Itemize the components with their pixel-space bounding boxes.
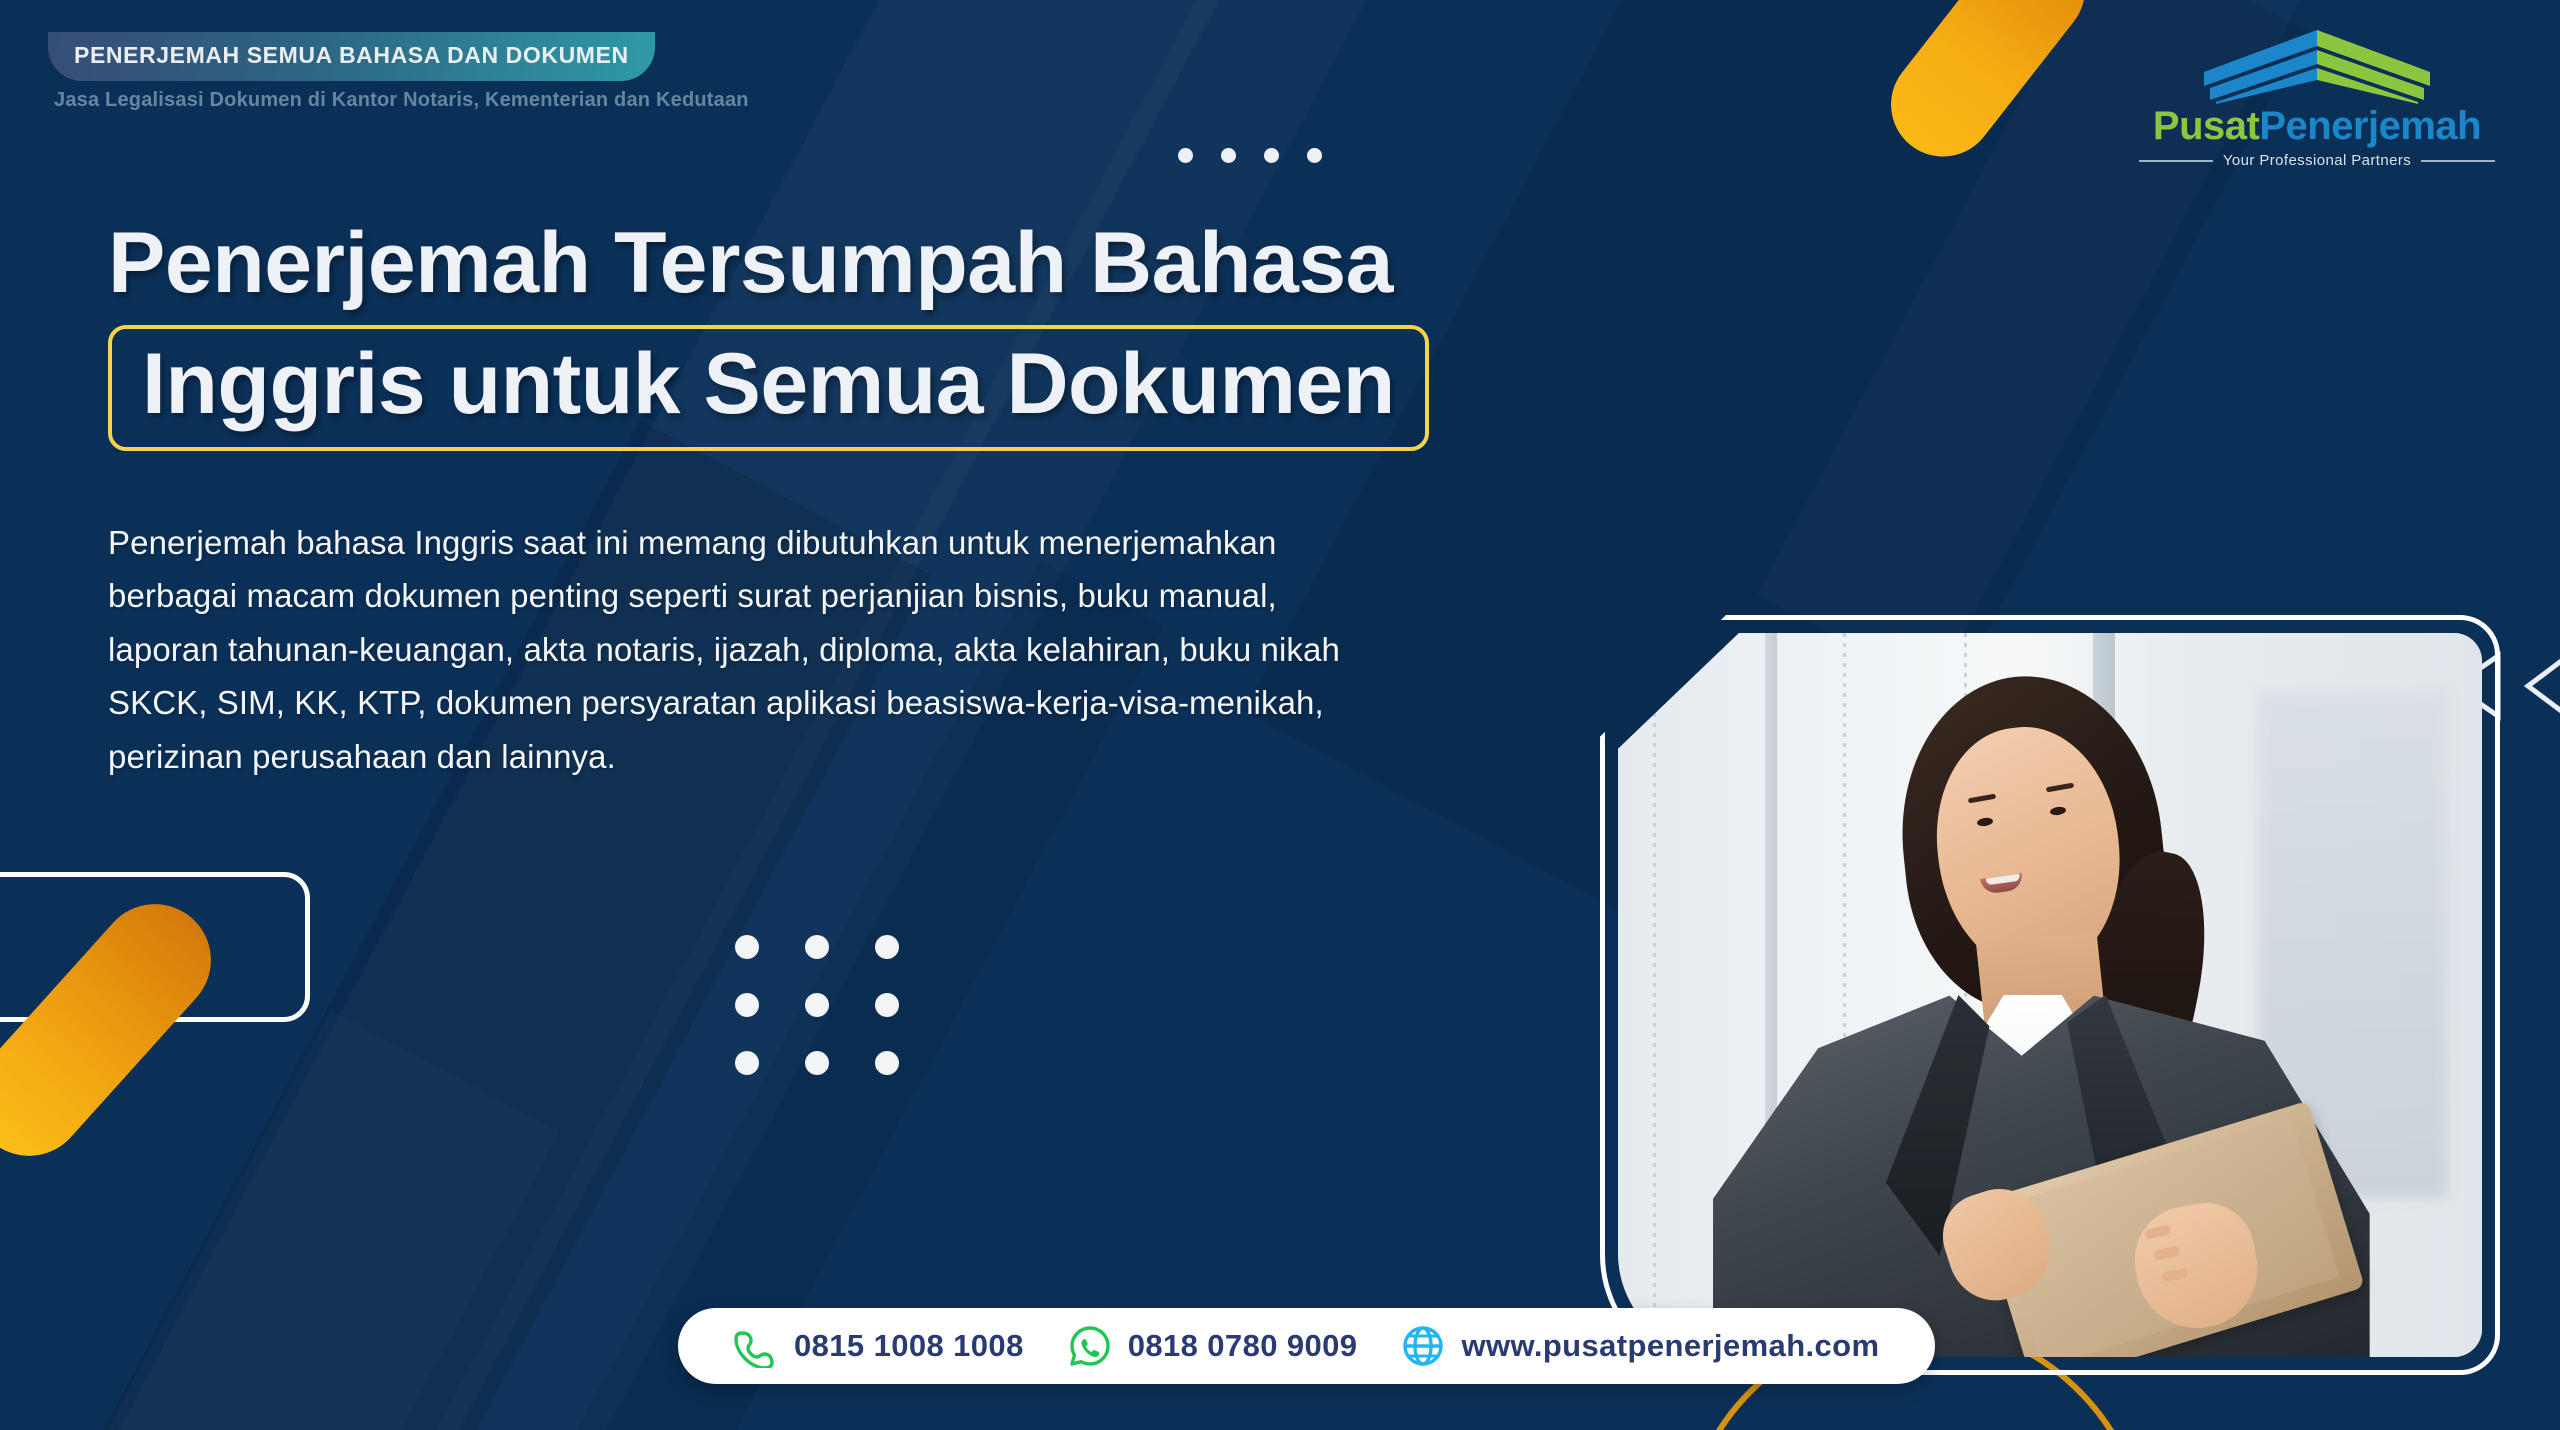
dot	[1307, 148, 1322, 163]
watermark: PENERJEMAH SEMUA BAHASA DAN DOKUMEN Jasa…	[48, 32, 848, 112]
building-roof-icon	[2122, 26, 2512, 104]
promo-banner: PENERJEMAH SEMUA BAHASA DAN DOKUMEN Jasa…	[0, 0, 2560, 1430]
logo-wordmark: PusatPenerjemah	[2122, 106, 2512, 146]
headline-line-1: Penerjemah Tersumpah Bahasa	[108, 215, 1908, 311]
phone-number: 0815 1008 1008	[794, 1328, 1024, 1364]
dot	[735, 993, 759, 1017]
paragraph-line: Penerjemah bahasa Inggris saat ini meman…	[108, 516, 1808, 569]
dot	[805, 1051, 829, 1075]
logo-name-part2: Penerjemah	[2259, 104, 2481, 148]
paragraph-line: laporan tahunan-keuangan, akta notaris, …	[108, 623, 1808, 676]
brand-logo[interactable]: PusatPenerjemah Your Professional Partne…	[2122, 26, 2512, 169]
headline-highlight-box: Inggris untuk Semua Dokumen	[108, 325, 1429, 451]
hero-photo	[1600, 615, 2500, 1375]
paragraph-line: berbagai macam dokumen penting seperti s…	[108, 569, 1808, 622]
logo-tagline-row: Your Professional Partners	[2122, 152, 2512, 169]
dot	[1221, 148, 1236, 163]
dot	[875, 935, 899, 959]
globe-icon	[1401, 1324, 1445, 1368]
whatsapp-icon	[1068, 1324, 1112, 1368]
contact-bar: 0815 1008 1008 0818 0780 9009 www.pusatp…	[678, 1308, 1935, 1384]
top-dot-row	[1178, 148, 1322, 163]
watermark-subtitle: Jasa Legalisasi Dokumen di Kantor Notari…	[54, 89, 848, 112]
whatsapp-number: 0818 0780 9009	[1128, 1328, 1358, 1364]
dot	[805, 935, 829, 959]
paragraph-line: SKCK, SIM, KK, KTP, dokumen persyaratan …	[108, 676, 1808, 729]
dot	[735, 1051, 759, 1075]
website-url: www.pusatpenerjemah.com	[1461, 1328, 1879, 1364]
chevron-left-icon	[2518, 650, 2560, 722]
tagline-rule-right	[2421, 160, 2495, 162]
dot	[875, 1051, 899, 1075]
watermark-title: PENERJEMAH SEMUA BAHASA DAN DOKUMEN	[74, 42, 629, 68]
tagline-rule-left	[2139, 160, 2213, 162]
headline-block: Penerjemah Tersumpah Bahasa Inggris untu…	[108, 215, 1908, 451]
dot	[735, 935, 759, 959]
contact-website[interactable]: www.pusatpenerjemah.com	[1379, 1324, 1901, 1368]
dot	[1264, 148, 1279, 163]
dot	[805, 993, 829, 1017]
phone-icon	[734, 1324, 778, 1368]
watermark-pill: PENERJEMAH SEMUA BAHASA DAN DOKUMEN	[48, 32, 655, 81]
contact-phone[interactable]: 0815 1008 1008	[712, 1324, 1046, 1368]
description-paragraph: Penerjemah bahasa Inggris saat ini meman…	[108, 516, 1808, 783]
headline-line-2: Inggris untuk Semua Dokumen	[142, 341, 1395, 429]
dot	[875, 993, 899, 1017]
dot-grid	[735, 935, 911, 1075]
contact-whatsapp[interactable]: 0818 0780 9009	[1046, 1324, 1380, 1368]
hero-photo-frame	[1600, 615, 2500, 1375]
paragraph-line: perizinan perusahaan dan lainnya.	[108, 730, 1808, 783]
logo-name-part1: Pusat	[2153, 104, 2259, 148]
logo-tagline: Your Professional Partners	[2223, 152, 2411, 169]
dot	[1178, 148, 1193, 163]
